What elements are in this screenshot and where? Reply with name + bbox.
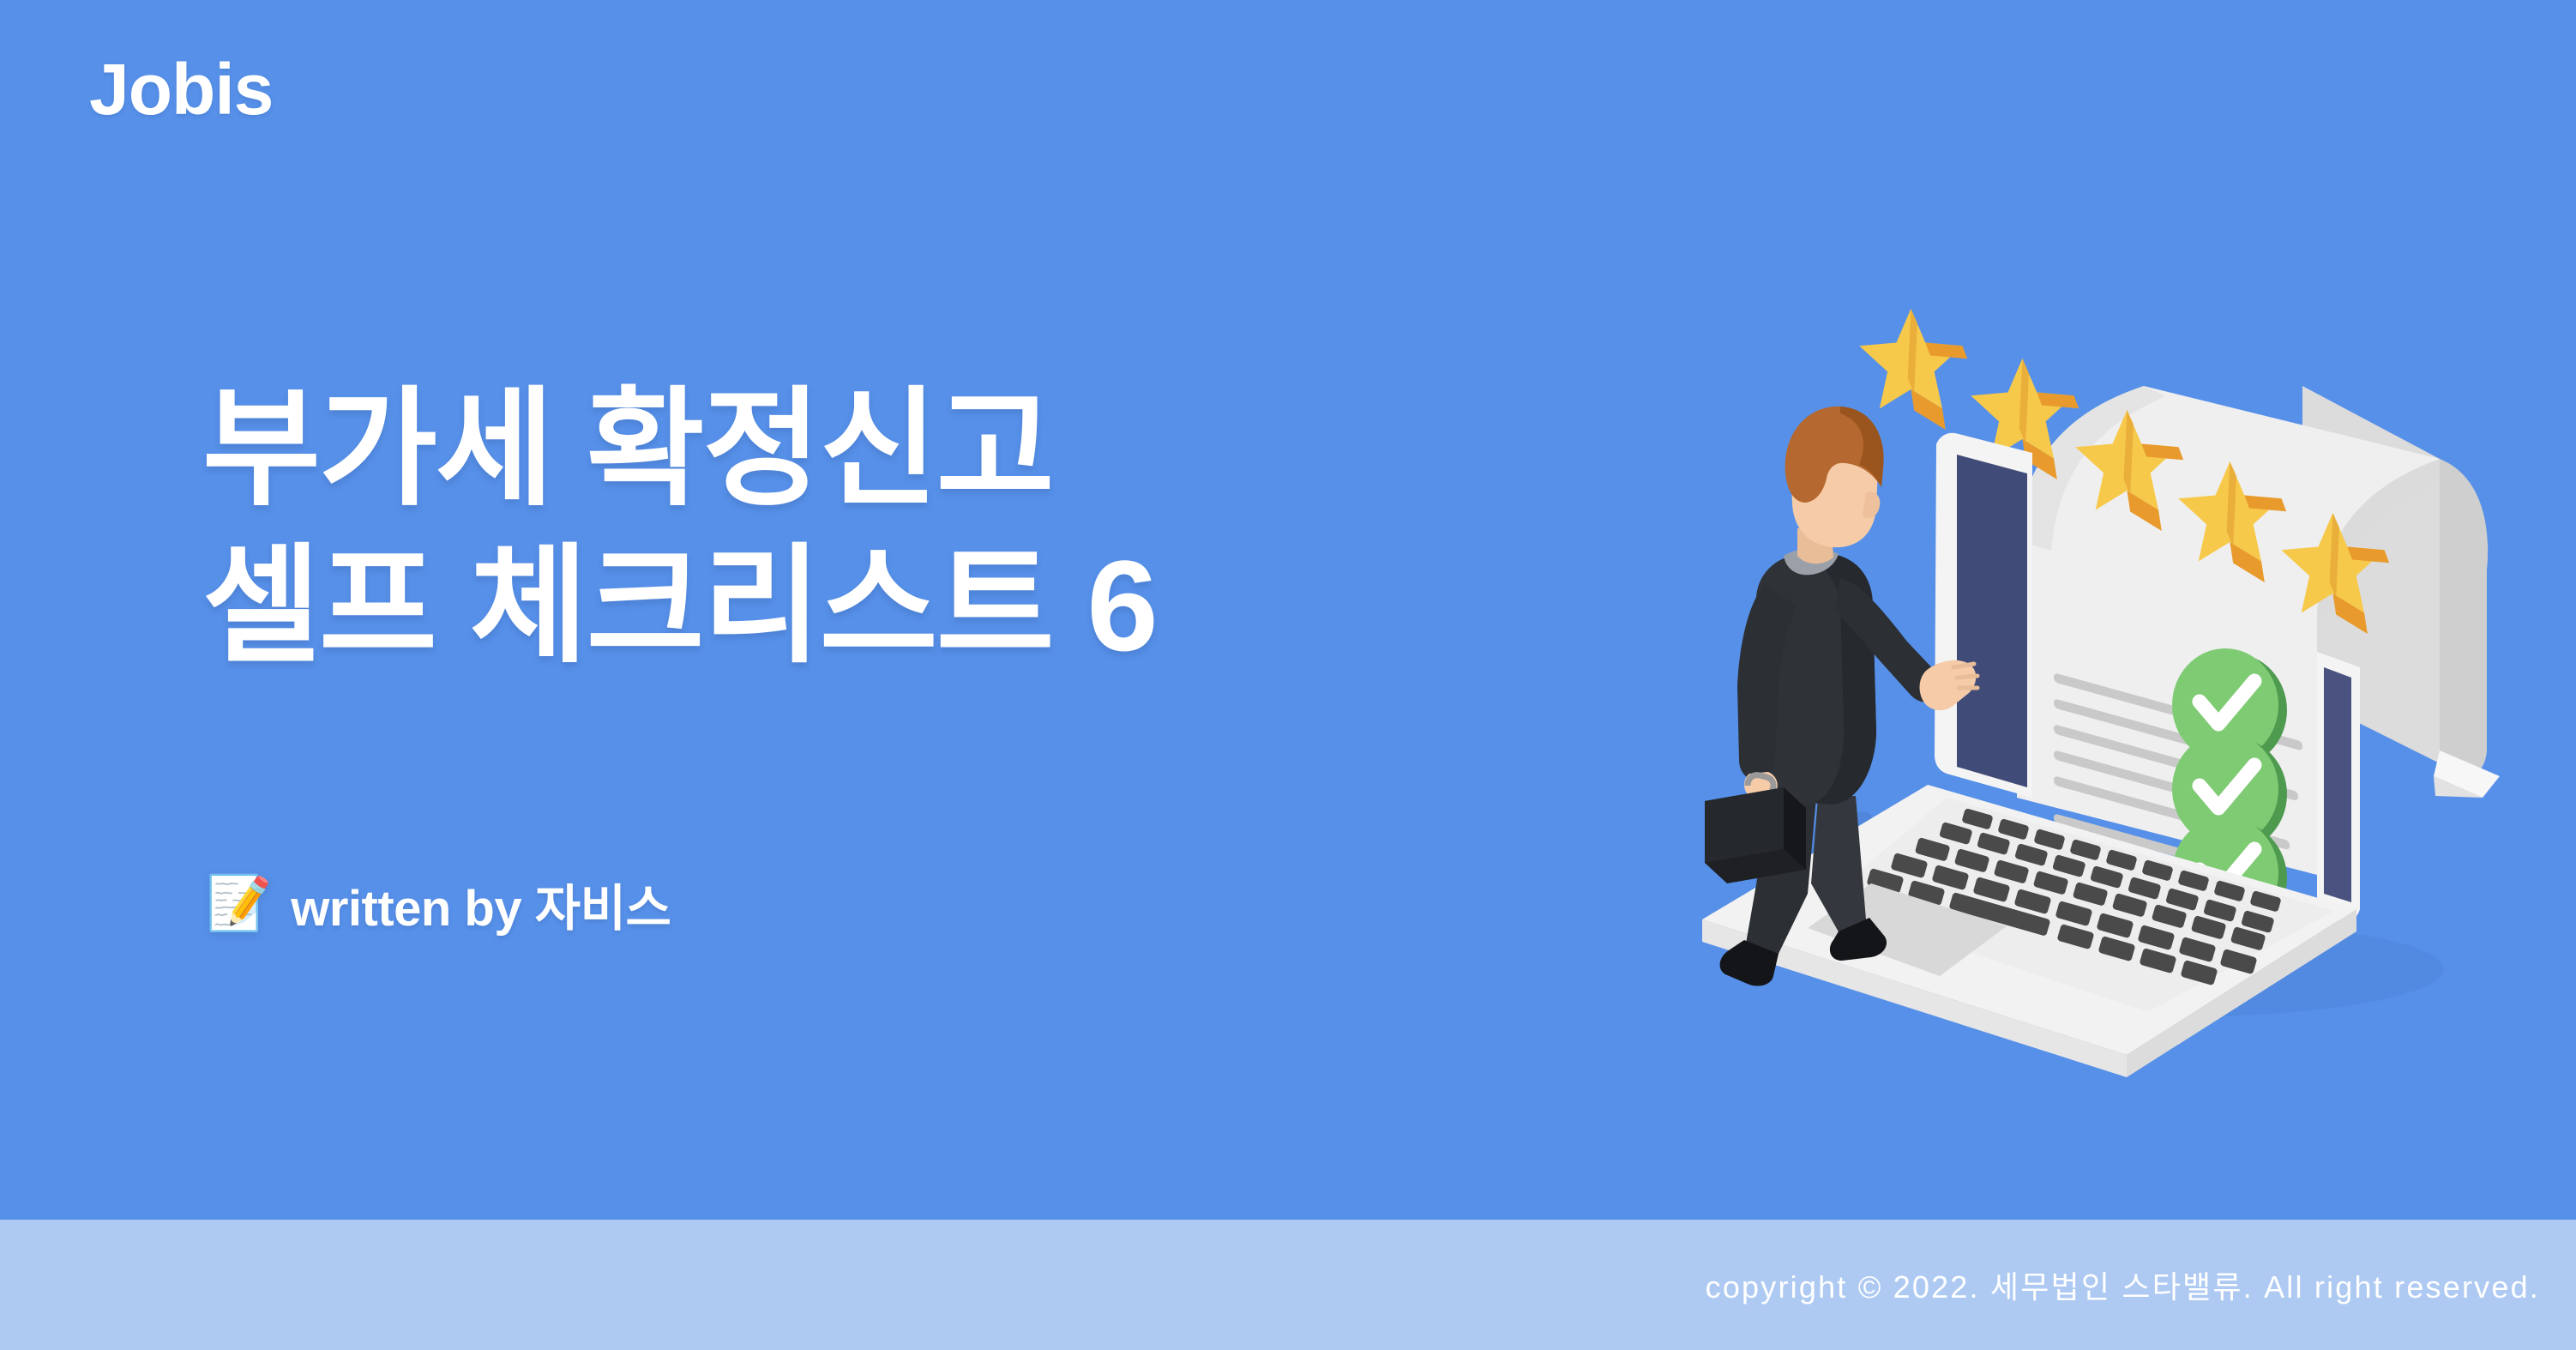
headline-line-1: 부가세 확정신고 — [202, 371, 1609, 527]
hero-illustration — [1664, 283, 2530, 1106]
byline-text: written by 자비스 — [291, 868, 671, 940]
footer-band: copyright © 2022. 세무법인 스타밸류. All right r… — [0, 1220, 2576, 1350]
star-1 — [1859, 309, 1967, 430]
head — [1785, 407, 1884, 547]
byline: 📝 written by 자비스 — [206, 868, 671, 940]
page-title: 부가세 확정신고 셀프 체크리스트 6 — [202, 371, 1609, 684]
headline-line-2: 셀프 체크리스트 6 — [202, 527, 1609, 684]
memo-emoji-icon: 📝 — [206, 877, 272, 931]
copyright-text: copyright © 2022. 세무법인 스타밸류. All right r… — [1706, 1263, 2576, 1307]
brand-logo: Jobis — [89, 53, 273, 125]
promo-banner: Jobis 부가세 확정신고 셀프 체크리스트 6 📝 written by 자… — [0, 0, 2576, 1350]
